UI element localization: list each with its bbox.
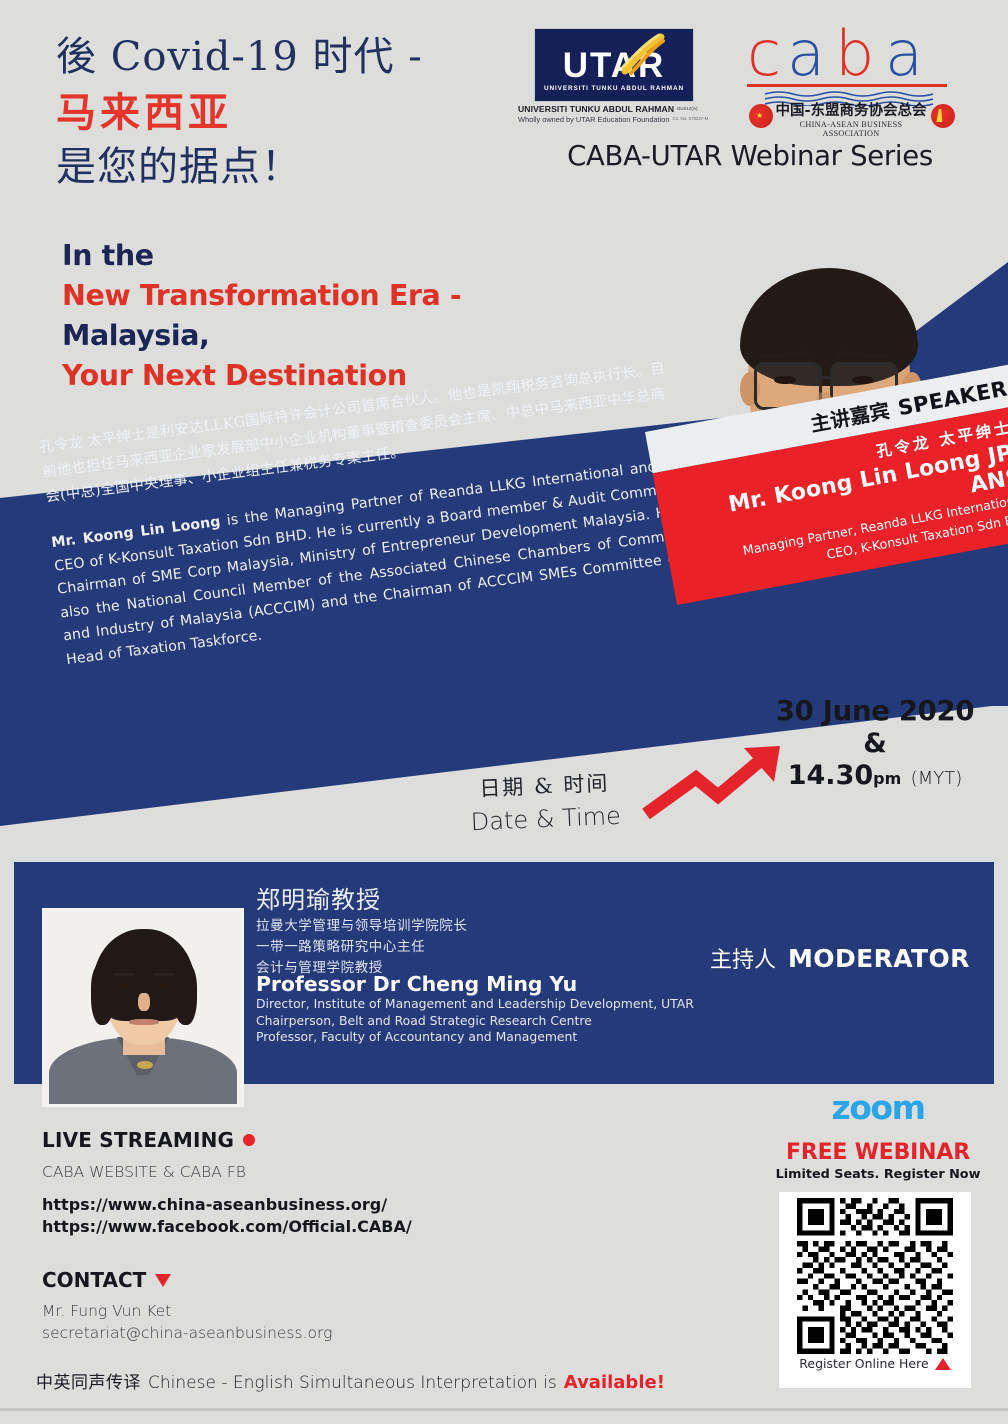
datetime-ampersand: & xyxy=(760,728,990,759)
triangle-down-icon xyxy=(155,1274,171,1287)
bottom-divider xyxy=(0,1408,1008,1411)
utar-caption-line2: Wholly owned by UTAR Education Foundatio… xyxy=(518,115,669,124)
datetime-label-chinese: 日期 & 时间 xyxy=(469,767,620,804)
caba-website-url[interactable]: https://www.china-aseanbusiness.org/ xyxy=(42,1194,502,1216)
moderator-label-english: MODERATOR xyxy=(788,944,970,973)
event-time-suffix: pm xyxy=(873,769,901,788)
moderator-cn-role-1: 一带一路策略研究中心主任 xyxy=(256,938,676,957)
live-streaming-heading: LIVE STREAMING xyxy=(42,1128,234,1152)
caba-english-name: CHINA-ASEAN BUSINESS ASSOCIATION xyxy=(773,120,929,138)
title-line3: Malaysia, xyxy=(62,316,492,356)
moderator-en-role-1: Chairperson, Belt and Road Strategic Res… xyxy=(256,1013,726,1030)
moderator-cn-role-0: 拉曼大学管理与领导培训学院院长 xyxy=(256,917,676,936)
qr-caption: Register Online Here xyxy=(799,1356,928,1371)
event-time: 14.30 xyxy=(788,760,873,791)
moderator-name-chinese: 郑明瑜教授 xyxy=(256,880,676,915)
caba-wordmark: c a b a xyxy=(745,24,955,84)
zoom-logo: zoom xyxy=(818,1088,938,1127)
free-webinar-heading: FREE WEBINAR xyxy=(768,1140,988,1165)
utar-logo-subtext: UNIVERSITI TUNKU ABDUL RAHMAN xyxy=(535,85,693,92)
moderator-name-english: Professor Dr Cheng Ming Yu xyxy=(256,972,726,996)
caba-name-block: 中国-东盟商务协会总会 CHINA-ASEAN BUSINESS ASSOCIA… xyxy=(773,104,929,138)
chinese-headline-line2: 马来西亚 xyxy=(56,85,496,140)
event-timezone: (MYT) xyxy=(911,768,963,789)
contact-email[interactable]: secretariat@china-aseanbusiness.org xyxy=(42,1322,502,1344)
registration-qr-box[interactable]: Register Online Here xyxy=(779,1192,971,1388)
interpretation-chinese: 中英同声传译 xyxy=(36,1368,141,1393)
live-streaming-channels: CABA WEBSITE & CABA FB xyxy=(42,1163,502,1181)
poster-title: In the New Transformation Era - Malaysia… xyxy=(62,236,492,396)
series-title: CABA-UTAR Webinar Series xyxy=(520,140,980,172)
caba-chinese-name: 中国-东盟商务协会总会 xyxy=(773,104,929,119)
event-date: 30 June 2020 xyxy=(760,695,990,727)
free-webinar-block: FREE WEBINAR Limited Seats. Register Now xyxy=(768,1140,988,1182)
datetime-label: 日期 & 时间 Date & Time xyxy=(469,767,622,836)
webinar-poster: 後 Covid-19 时代 - 马来西亚 是您的据点！ UTAR UNIVERS… xyxy=(0,0,1008,1424)
title-line2: New Transformation Era - xyxy=(62,276,492,316)
moderator-label: 主持人 MODERATOR xyxy=(710,942,970,974)
china-flag-icon: ★ xyxy=(749,104,773,128)
interpretation-note: 中英同声传译 Chinese - English Simultaneous In… xyxy=(36,1368,736,1393)
chinese-headline-line3: 是您的据点！ xyxy=(56,140,496,195)
live-streaming-block: LIVE STREAMING CABA WEBSITE & CABA FB ht… xyxy=(42,1128,502,1238)
moderator-en-role-0: Director, Institute of Management and Le… xyxy=(256,996,726,1013)
utar-caption-tiny1: DU012(A) xyxy=(677,106,698,111)
utar-caption-tiny2: Co. No. 578227-M xyxy=(672,116,708,121)
contact-person: Mr. Fung Vun Ket xyxy=(42,1300,502,1322)
datetime-value: 30 June 2020 & 14.30pm (MYT) xyxy=(760,695,990,791)
utar-swoosh-icon xyxy=(621,33,665,75)
asean-emblem-icon xyxy=(931,104,955,128)
datetime-label-english: Date & Time xyxy=(470,802,621,837)
utar-caption: UNIVERSITI TUNKU ABDUL RAHMANDU012(A) Wh… xyxy=(518,104,714,124)
live-indicator-icon xyxy=(243,1134,255,1146)
free-webinar-sub: Limited Seats. Register Now xyxy=(768,1167,988,1182)
contact-heading: CONTACT xyxy=(42,1268,146,1292)
utar-caption-line1: UNIVERSITI TUNKU ABDUL RAHMAN xyxy=(518,104,674,114)
moderator-label-chinese: 主持人 xyxy=(710,942,776,974)
interpretation-available: Available! xyxy=(564,1372,665,1393)
qr-code-icon[interactable] xyxy=(785,1198,965,1354)
chinese-headline: 後 Covid-19 时代 - 马来西亚 是您的据点！ xyxy=(56,30,496,195)
chinese-headline-line1: 後 Covid-19 时代 - xyxy=(56,30,496,85)
caba-logo: c a b a ★ 中国-东盟商务协会总会 CHINA-ASEAN BUSINE… xyxy=(745,24,955,124)
utar-logo: UTAR UNIVERSITI TUNKU ABDUL RAHMAN xyxy=(534,28,694,102)
triangle-up-icon xyxy=(935,1358,951,1370)
moderator-en-role-2: Professor, Faculty of Accountancy and Ma… xyxy=(256,1029,726,1046)
moderator-photo xyxy=(42,908,244,1107)
title-line1: In the xyxy=(62,236,492,276)
moderator-chinese-block: 郑明瑜教授 拉曼大学管理与领导培训学院院长 一带一路策略研究中心主任 会计与管理… xyxy=(256,880,676,978)
interpretation-english: Chinese - English Simultaneous Interpret… xyxy=(148,1373,557,1393)
moderator-english-block: Professor Dr Cheng Ming Yu Director, Ins… xyxy=(256,972,726,1046)
caba-facebook-url[interactable]: https://www.facebook.com/Official.CABA/ xyxy=(42,1216,502,1238)
contact-block: CONTACT Mr. Fung Vun Ketsecretariat@chin… xyxy=(42,1268,502,1344)
caba-underline xyxy=(747,84,947,87)
